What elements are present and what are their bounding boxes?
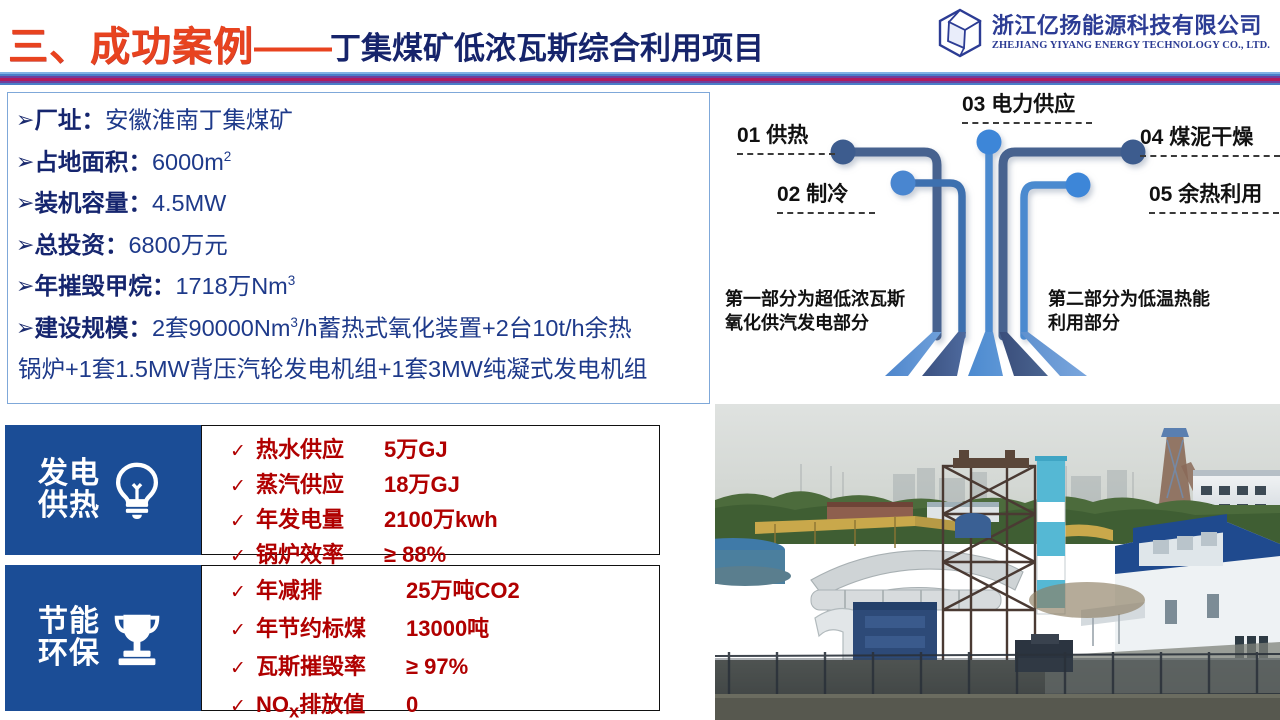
fact-value: 6800万元: [128, 226, 227, 260]
diagram-label-name: 余热利用: [1178, 183, 1262, 206]
metric-value: 2100万kwh: [384, 502, 498, 534]
diagram-label-underline: [1140, 155, 1280, 157]
metric-tag-line1: 发电: [38, 458, 100, 490]
metric-value: 25万吨CO2: [406, 573, 520, 605]
diagram-label-underline: [1149, 212, 1279, 214]
title-dash: ——: [254, 25, 330, 70]
fact-label: 占地面积: [34, 143, 128, 177]
metric-name: 年发电量: [256, 502, 384, 534]
diagram-label-03: 03 电力供应: [962, 88, 1092, 124]
header-divider-bar: [0, 72, 1280, 85]
diagram-caption-left: 第一部分为超低浓瓦斯 氧化供汽发电部分: [725, 288, 905, 336]
page-title: 三、成功案例 —— 丁集煤矿低浓瓦斯综合利用项目: [8, 14, 764, 72]
diagram-label-05: 05 余热利用: [1149, 178, 1279, 214]
metric-tag: 节能 环保: [5, 565, 201, 711]
diagram-caption-right: 第二部分为低温热能 利用部分: [1048, 288, 1210, 336]
bullet-arrow-icon: ➢: [16, 109, 34, 131]
bullet-arrow-icon: ➢: [16, 151, 34, 173]
metric-value: 0: [406, 692, 418, 718]
bullet-arrow-icon: ➢: [16, 234, 34, 256]
diagram-label-name: 制冷: [806, 183, 848, 206]
title-red-part: 三、成功案例: [8, 14, 254, 72]
fact-colon: ：: [152, 267, 176, 301]
metric-value: 13000吨: [406, 611, 489, 643]
diagram-label-underline: [777, 212, 875, 214]
metric-tag: 发电 供热: [5, 425, 201, 555]
diagram-label-text: 01 供热: [737, 119, 835, 149]
fact-value: 2套90000Nm3/h蓄热式氧化装置+2台10t/h余热: [152, 309, 632, 343]
metric-name: 热水供应: [256, 432, 384, 464]
company-name-cn: 浙江亿扬能源科技有限公司: [992, 15, 1270, 37]
fact-value: 4.5MW: [152, 190, 226, 217]
metric-tag-line2: 环保: [38, 638, 100, 670]
diagram-label-name: 煤泥干燥: [1169, 126, 1253, 149]
metric-row: ✓年减排25万吨CO2: [230, 573, 659, 605]
metric-name: 蒸汽供应: [256, 467, 384, 499]
fact-row: ➢装机容量：4.5MW: [16, 184, 699, 218]
metric-value: 18万GJ: [384, 467, 460, 499]
metric-value: ≥ 97%: [406, 654, 468, 680]
company-logo: 浙江亿扬能源科技有限公司 ZHEJIANG YIYANG ENERGY TECH…: [937, 8, 1270, 58]
node-dot-03: [977, 130, 1002, 155]
check-icon: ✓: [230, 619, 256, 642]
fact-label: 建设规模: [34, 309, 128, 343]
fact-value: 安徽淮南丁集煤矿: [105, 101, 293, 135]
metric-name: NOx排放值: [256, 687, 406, 720]
caption-right-line1: 第二部分为低温热能: [1048, 288, 1210, 312]
metric-tag-line1: 节能: [38, 606, 100, 638]
energy-flow-diagram: 01 供热 02 制冷 03 电力供应 04 煤泥干燥 05 余热利用 第一部分…: [715, 86, 1280, 404]
bullet-arrow-icon: ➢: [16, 192, 34, 214]
fact-value: 1718万Nm3: [175, 267, 295, 301]
diagram-label-01: 01 供热: [737, 119, 835, 155]
caption-left-line2: 氧化供汽发电部分: [725, 312, 905, 336]
project-facts-panel: ➢厂址：安徽淮南丁集煤矿➢占地面积：6000m2➢装机容量：4.5MW➢总投资：…: [7, 92, 710, 404]
root-fan: [885, 332, 1087, 376]
divider-band-5: [0, 83, 1280, 85]
metric-name: 瓦斯摧毁率: [256, 649, 406, 681]
diagram-label-text: 04 煤泥干燥: [1140, 121, 1280, 151]
metric-tag-line2: 供热: [38, 490, 100, 522]
metric-row: ✓年发电量2100万kwh: [230, 502, 659, 534]
check-icon: ✓: [230, 440, 256, 463]
metric-name: 年减排: [256, 573, 406, 605]
check-icon: ✓: [230, 475, 256, 498]
diagram-label-underline: [737, 153, 835, 155]
perimeter-fence: [715, 652, 1280, 700]
slide-header: 三、成功案例 —— 丁集煤矿低浓瓦斯综合利用项目 浙江亿扬能源科技有限公司 ZH…: [0, 0, 1280, 72]
fact-colon: ：: [128, 309, 152, 343]
diagram-label-number: 03: [962, 93, 985, 116]
caption-left-line1: 第一部分为超低浓瓦斯: [725, 288, 905, 312]
fact-row: ➢厂址：安徽淮南丁集煤矿: [16, 101, 699, 135]
fact-label: 年摧毁甲烷: [34, 267, 152, 301]
metric-row: ✓瓦斯摧毁率≥ 97%: [230, 649, 659, 681]
diagram-label-number: 05: [1149, 183, 1172, 206]
diagram-label-04: 04 煤泥干燥: [1140, 121, 1280, 157]
metric-list: ✓年减排25万吨CO2✓年节约标煤13000吨✓瓦斯摧毁率≥ 97%✓NOx排放…: [201, 565, 660, 711]
fact-continuation-line: 锅炉+1套1.5MW背压汽轮发电机组+1套3MW纯凝式发电机组: [18, 350, 699, 384]
plant-photo: [715, 404, 1280, 720]
caption-right-line2: 利用部分: [1048, 312, 1210, 336]
check-icon: ✓: [230, 695, 256, 718]
fact-colon: ：: [81, 101, 105, 135]
diagram-label-text: 02 制冷: [777, 178, 875, 208]
metric-row: ✓蒸汽供应18万GJ: [230, 467, 659, 499]
fact-row: ➢建设规模：2套90000Nm3/h蓄热式氧化装置+2台10t/h余热: [16, 309, 699, 343]
fact-label: 厂址: [34, 101, 81, 135]
lightbulb-icon: [106, 459, 168, 521]
node-dot-02: [891, 171, 916, 196]
fact-value: 6000m2: [152, 149, 231, 176]
fact-row: ➢总投资：6800万元: [16, 226, 699, 260]
check-icon: ✓: [230, 657, 256, 680]
metric-block-power-heat: 发电 供热 ✓热水供应5万GJ✓蒸汽供应18万GJ✓年发电量2100万kwh✓锅…: [5, 425, 660, 555]
bullet-arrow-icon: ➢: [16, 275, 34, 297]
trophy-icon: [106, 607, 168, 669]
fact-label: 总投资: [34, 226, 105, 260]
fact-row: ➢占地面积：6000m2: [16, 143, 699, 177]
check-icon: ✓: [230, 510, 256, 533]
fact-colon: ：: [105, 226, 129, 260]
diagram-label-name: 电力供应: [991, 93, 1075, 116]
fact-row: ➢年摧毁甲烷：1718万Nm3: [16, 267, 699, 301]
company-name-en: ZHEJIANG YIYANG ENERGY TECHNOLOGY CO., L…: [992, 41, 1270, 52]
metric-block-energy-saving: 节能 环保 ✓年减排25万吨CO2✓年节约标煤13000吨✓瓦斯摧毁率≥ 97%…: [5, 565, 660, 711]
fact-colon: ：: [128, 143, 152, 177]
diagram-label-number: 04: [1140, 126, 1163, 149]
metric-row: ✓NOx排放值0: [230, 687, 659, 720]
diagram-label-text: 03 电力供应: [962, 88, 1092, 118]
fact-label: 装机容量: [34, 184, 128, 218]
metric-row: ✓热水供应5万GJ: [230, 432, 659, 464]
check-icon: ✓: [230, 581, 256, 604]
diagram-label-text: 05 余热利用: [1149, 178, 1279, 208]
diagram-label-number: 02: [777, 183, 800, 206]
node-dot-05: [1066, 173, 1091, 198]
metric-row: ✓年节约标煤13000吨: [230, 611, 659, 643]
title-navy-part: 丁集煤矿低浓瓦斯综合利用项目: [330, 23, 764, 68]
diagram-label-name: 供热: [766, 124, 808, 147]
diagram-label-02: 02 制冷: [777, 178, 875, 214]
diagram-label-underline: [962, 122, 1092, 124]
metric-name: 年节约标煤: [256, 611, 406, 643]
bullet-arrow-icon: ➢: [16, 317, 34, 339]
metric-value: 5万GJ: [384, 432, 448, 464]
hexagon-logo-icon: [937, 8, 983, 58]
diagram-label-number: 01: [737, 124, 760, 147]
fact-colon: ：: [128, 184, 152, 218]
metric-list: ✓热水供应5万GJ✓蒸汽供应18万GJ✓年发电量2100万kwh✓锅炉效率≥ 8…: [201, 425, 660, 555]
